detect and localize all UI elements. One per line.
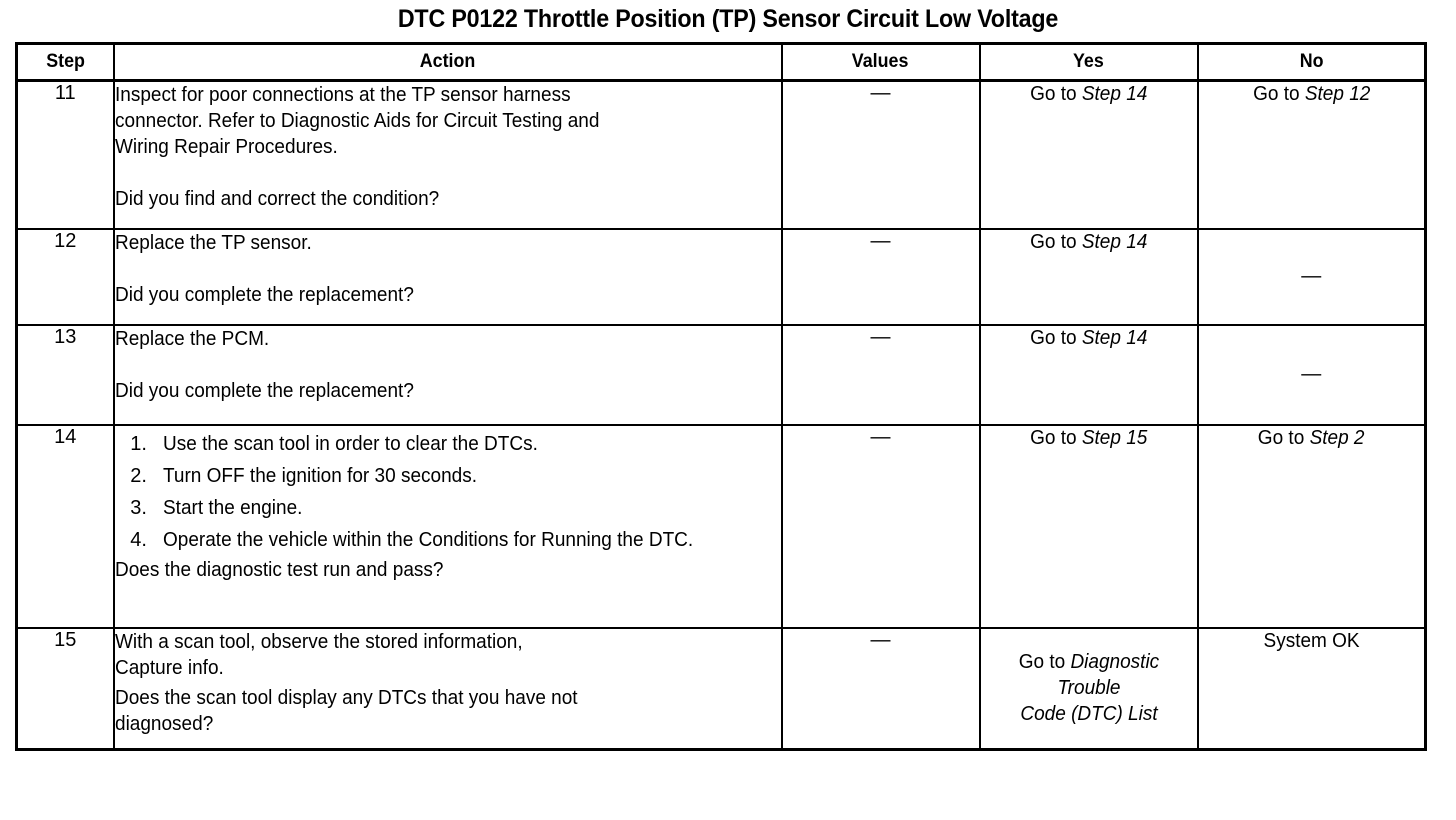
values-cell: — <box>782 229 980 325</box>
step-number: 11 <box>55 82 76 104</box>
spacer <box>115 160 781 186</box>
action-question: Did you complete the replacement? <box>115 378 748 404</box>
values-cell: — <box>782 425 980 628</box>
values-dash: — <box>871 327 891 347</box>
list-item-text: Use the scan tool in order to clear the … <box>163 428 538 460</box>
yes-branch-cell: Go to Step 14 <box>980 81 1198 229</box>
action-cell: Use the scan tool in order to clear the … <box>114 425 782 628</box>
step-number: 12 <box>54 230 76 252</box>
list-item-text: Turn OFF the ignition for 30 seconds. <box>163 460 477 492</box>
yes-branch-reference-line3-wrap: Code (DTC) List <box>986 701 1191 727</box>
yes-branch-prefix: Go to <box>1018 651 1070 673</box>
step-number: 15 <box>54 629 76 651</box>
no-branch-text: System OK <box>1263 629 1359 654</box>
table-row: 13 Replace the PCM. Did you complete the… <box>17 325 1426 425</box>
no-branch-cell: — <box>1198 229 1426 325</box>
action-cell: Replace the TP sensor. Did you complete … <box>114 229 782 325</box>
yes-branch-prefix: Go to <box>1030 231 1082 253</box>
no-branch-cell: — <box>1198 325 1426 425</box>
document-page: DTC P0122 Throttle Position (TP) Sensor … <box>0 0 1456 820</box>
step-number-cell: 14 <box>17 425 114 628</box>
yes-branch-cell: Go to Step 15 <box>980 425 1198 628</box>
column-header-values-label: Values <box>852 51 909 73</box>
diagnostic-table: Step Action Values Yes No 1 <box>15 42 1427 751</box>
no-branch-reference: Step 12 <box>1304 83 1370 105</box>
action-line: Replace the TP sensor. <box>115 230 748 256</box>
column-header-action: Action <box>114 44 782 81</box>
spacer <box>115 352 781 378</box>
no-branch-reference: Step 2 <box>1310 427 1365 449</box>
yes-branch-reference-line2: Trouble <box>1057 677 1120 699</box>
column-header-action-label: Action <box>420 51 476 73</box>
action-question: Does the diagnostic test run and pass? <box>115 557 443 583</box>
list-item: Operate the vehicle within the Condition… <box>153 524 781 556</box>
column-header-step: Step <box>17 44 114 81</box>
action-question-wrapper: Does the diagnostic test run and pass? <box>115 557 781 583</box>
action-question-cont: diagnosed? <box>115 711 748 737</box>
column-header-yes: Yes <box>980 44 1198 81</box>
table-row: 15 With a scan tool, observe the stored … <box>17 628 1426 750</box>
action-question: Did you complete the replacement? <box>115 282 748 308</box>
values-dash: — <box>871 83 891 103</box>
yes-branch-reference: Step 14 <box>1082 327 1148 349</box>
values-cell: — <box>782 81 980 229</box>
no-branch-cell: Go to Step 12 <box>1198 81 1426 229</box>
yes-branch-cell: Go to Diagnostic Trouble Code (DTC) List <box>980 628 1198 750</box>
action-line: Replace the PCM. <box>115 326 748 352</box>
yes-branch-text: Go to Diagnostic <box>1018 649 1158 675</box>
list-item-text: Start the engine. <box>163 492 302 524</box>
yes-branch-prefix: Go to <box>1030 83 1082 105</box>
action-question: Did you find and correct the condition? <box>115 186 748 212</box>
yes-branch-text: Go to Step 14 <box>1030 326 1147 351</box>
action-line: Inspect for poor connections at the TP s… <box>115 82 748 108</box>
list-item-text: Operate the vehicle within the Condition… <box>163 524 693 556</box>
action-cell: With a scan tool, observe the stored inf… <box>114 628 782 750</box>
page-title: DTC P0122 Throttle Position (TP) Sensor … <box>51 4 1405 34</box>
step-number-cell: 12 <box>17 229 114 325</box>
yes-branch-prefix: Go to <box>1030 327 1082 349</box>
no-branch-text: Go to Step 12 <box>1253 82 1370 107</box>
step-number-cell: 15 <box>17 628 114 750</box>
yes-branch-prefix: Go to <box>1030 427 1082 449</box>
action-cell: Inspect for poor connections at the TP s… <box>114 81 782 229</box>
list-item: Turn OFF the ignition for 30 seconds. <box>153 460 781 492</box>
yes-branch-text: Go to Step 14 <box>1030 230 1147 255</box>
step-number-cell: 11 <box>17 81 114 229</box>
values-cell: — <box>782 628 980 750</box>
list-item: Start the engine. <box>153 492 781 524</box>
yes-branch-cell: Go to Step 14 <box>980 229 1198 325</box>
no-branch-prefix: Go to <box>1253 83 1305 105</box>
yes-branch-cell: Go to Step 14 <box>980 325 1198 425</box>
no-branch-cell: Go to Step 2 <box>1198 425 1426 628</box>
yes-branch-reference-line2-wrap: Trouble <box>986 675 1191 701</box>
action-ordered-list: Use the scan tool in order to clear the … <box>115 428 781 556</box>
column-header-step-label: Step <box>46 51 85 73</box>
column-header-yes-label: Yes <box>1073 51 1104 73</box>
table-header-row: Step Action Values Yes No <box>17 44 1426 81</box>
table-row: 12 Replace the TP sensor. Did you comple… <box>17 229 1426 325</box>
yes-branch-reference-line1: Diagnostic <box>1070 651 1159 673</box>
table-row: 14 Use the scan tool in order to clear t… <box>17 425 1426 628</box>
values-cell: — <box>782 325 980 425</box>
action-line: Wiring Repair Procedures. <box>115 134 748 160</box>
step-number-cell: 13 <box>17 325 114 425</box>
list-item: Use the scan tool in order to clear the … <box>153 428 781 460</box>
action-line: With a scan tool, observe the stored inf… <box>115 629 748 655</box>
yes-branch-reference: Step 14 <box>1082 231 1148 253</box>
column-header-values: Values <box>782 44 980 81</box>
step-number: 13 <box>54 326 76 348</box>
yes-branch-reference: Step 14 <box>1082 83 1148 105</box>
action-line: Capture info. <box>115 655 748 681</box>
spacer <box>115 256 781 282</box>
values-dash: — <box>871 231 891 251</box>
column-header-no: No <box>1198 44 1426 81</box>
values-dash: — <box>871 630 891 650</box>
action-line: connector. Refer to Diagnostic Aids for … <box>115 108 748 134</box>
action-question: Does the scan tool display any DTCs that… <box>115 685 748 711</box>
yes-branch-text: Go to Step 15 <box>1030 426 1147 451</box>
step-number: 14 <box>54 426 76 448</box>
action-cell: Replace the PCM. Did you complete the re… <box>114 325 782 425</box>
yes-branch-reference-line3: Code (DTC) List <box>1020 703 1157 725</box>
values-dash: — <box>871 427 891 447</box>
no-branch-text: Go to Step 2 <box>1258 426 1365 451</box>
column-header-no-label: No <box>1299 51 1323 73</box>
table-row: 11 Inspect for poor connections at the T… <box>17 81 1426 229</box>
no-branch-cell: System OK <box>1198 628 1426 750</box>
no-branch-dash: — <box>1301 266 1321 286</box>
yes-branch-reference: Step 15 <box>1082 427 1148 449</box>
yes-branch-text: Go to Step 14 <box>1030 82 1147 107</box>
no-branch-dash: — <box>1301 364 1321 384</box>
no-branch-prefix: Go to <box>1258 427 1310 449</box>
